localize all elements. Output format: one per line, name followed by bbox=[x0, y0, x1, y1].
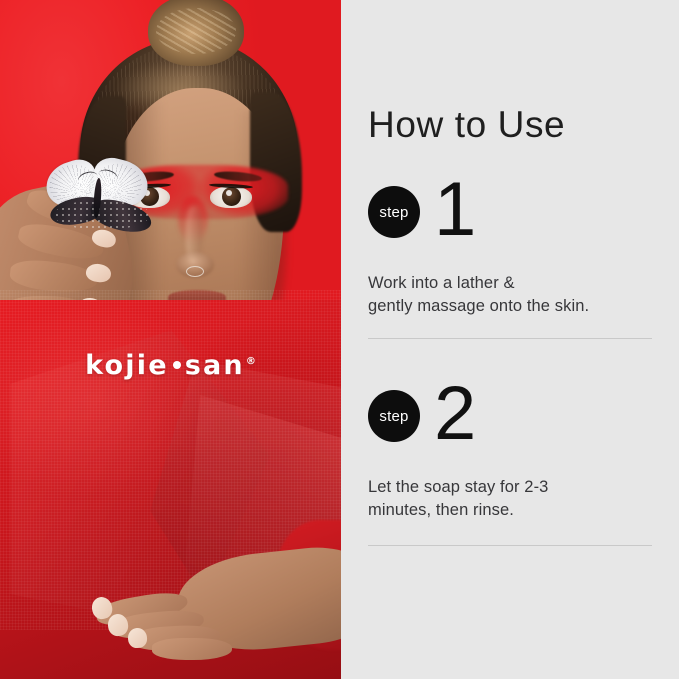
step-number-2: 2 bbox=[434, 376, 476, 452]
product-photo-panel: kojiesan® bbox=[0, 0, 341, 679]
brand-separator-dot bbox=[173, 361, 181, 369]
step-1-header: step 1 bbox=[368, 186, 652, 272]
step-divider-1 bbox=[368, 338, 652, 339]
product-infographic: kojiesan® How to Use step 1 Work into a … bbox=[0, 0, 679, 679]
step-1-instruction: Work into a lather & gently massage onto… bbox=[368, 272, 652, 319]
step-number-1: 1 bbox=[434, 172, 476, 248]
step-divider-2 bbox=[368, 545, 652, 546]
registered-trademark-icon: ® bbox=[246, 356, 256, 367]
step-badge-2: step bbox=[368, 390, 420, 442]
eye-right bbox=[210, 186, 252, 208]
brand-logo: kojiesan® bbox=[0, 352, 341, 379]
step-2-instruction: Let the soap stay for 2-3 minutes, then … bbox=[368, 476, 652, 523]
brand-name-part-1: kojie bbox=[85, 350, 169, 381]
butterfly-icon bbox=[44, 160, 156, 246]
step-block-2: step 2 Let the soap stay for 2-3 minutes… bbox=[368, 390, 652, 523]
nose-ring bbox=[186, 266, 204, 277]
page-title: How to Use bbox=[368, 106, 565, 143]
step-2-header: step 2 bbox=[368, 390, 652, 476]
butterfly-wing-spots bbox=[54, 200, 150, 230]
step-block-1: step 1 Work into a lather & gently massa… bbox=[368, 186, 652, 319]
step-badge-1: step bbox=[368, 186, 420, 238]
hair-topknot-wrap bbox=[156, 8, 236, 54]
brand-name-part-2: san bbox=[185, 350, 245, 381]
finger bbox=[152, 638, 232, 660]
iris-right bbox=[222, 187, 241, 206]
how-to-use-panel: How to Use step 1 Work into a lather & g… bbox=[341, 0, 679, 679]
